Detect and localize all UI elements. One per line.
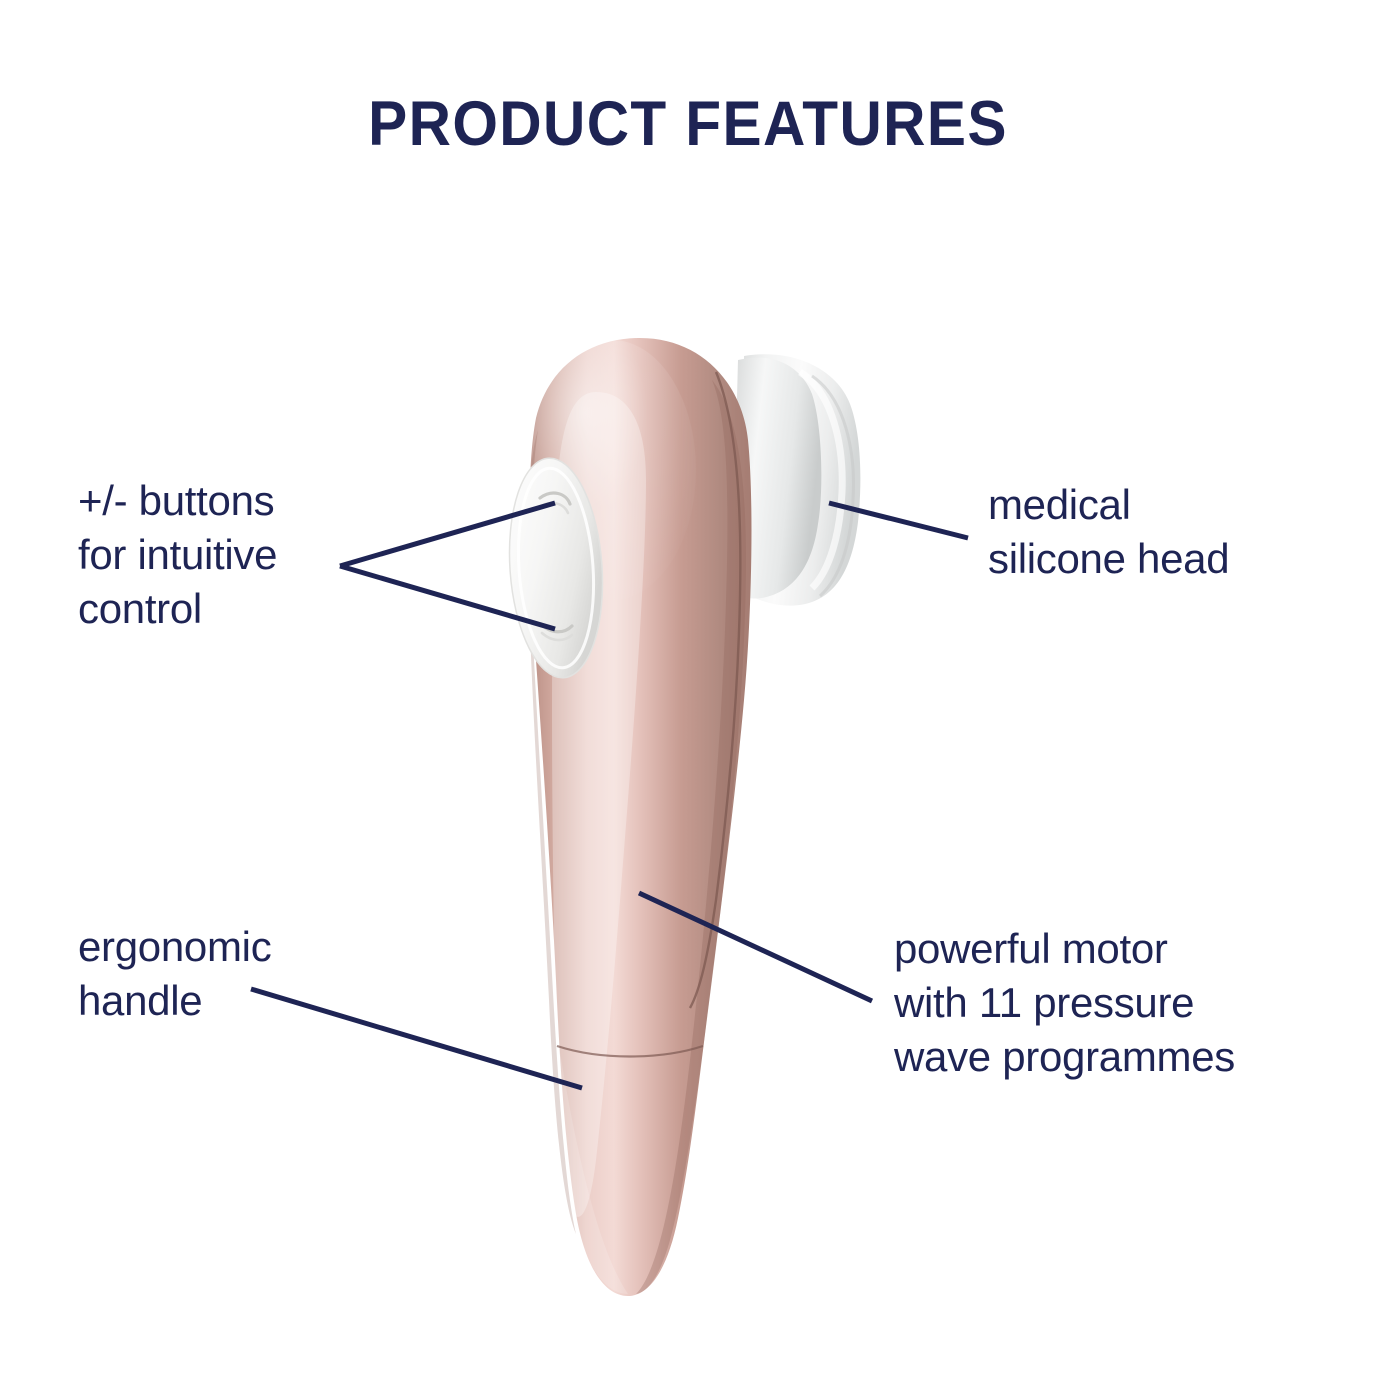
- silicone-head-group: [732, 354, 860, 605]
- callout-line: +/- buttons: [78, 474, 277, 528]
- callout-line: powerful motor: [894, 922, 1235, 976]
- callout-line: handle: [78, 974, 271, 1028]
- callout-line: with 11 pressure: [894, 976, 1235, 1030]
- callout-line: control: [78, 582, 277, 636]
- callout-plus-minus-buttons: +/- buttons for intuitive control: [78, 474, 277, 636]
- callout-line: for intuitive: [78, 528, 277, 582]
- callout-ergonomic-handle: ergonomic handle: [78, 920, 271, 1028]
- callout-medical-silicone-head: medical silicone head: [988, 478, 1229, 586]
- callout-line: wave programmes: [894, 1030, 1235, 1084]
- callout-line: silicone head: [988, 532, 1229, 586]
- callout-powerful-motor: powerful motor with 11 pressure wave pro…: [894, 922, 1235, 1084]
- leader-line-ergonomic-handle: [251, 989, 582, 1088]
- callout-line: medical: [988, 478, 1229, 532]
- product-illustration: [0, 0, 1376, 1376]
- product-features-infographic: PRODUCT FEATURES: [0, 0, 1376, 1376]
- callout-line: ergonomic: [78, 920, 271, 974]
